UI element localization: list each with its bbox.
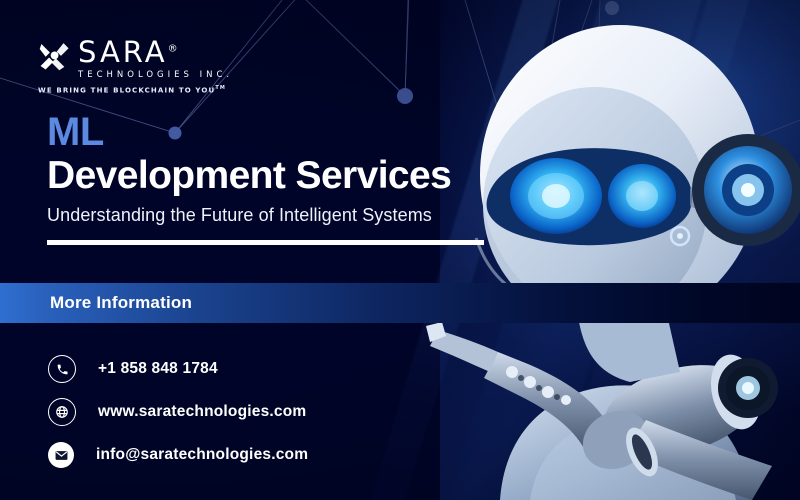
contact-item-phone[interactable]: +1 858 848 1784 [48, 352, 308, 386]
contact-website-label: www.saratechnologies.com [98, 403, 306, 421]
contact-email-label: info@saratechnologies.com [96, 446, 308, 464]
contact-list: +1 858 848 1784 www.saratechnologies.com… [48, 352, 308, 481]
registered-mark: ® [168, 43, 178, 54]
email-icon [48, 442, 74, 468]
brand-logo[interactable]: SARA® TECHNOLOGIES INC. WE BRING THE BLO… [38, 38, 288, 94]
brand-subname: TECHNOLOGIES INC. [78, 70, 233, 80]
headline-block: ML Development Services Understanding th… [47, 112, 517, 245]
brand-name: SARA® [78, 39, 178, 67]
more-information-button[interactable]: More Information [0, 283, 800, 323]
page-title: Development Services [47, 154, 517, 198]
marketing-banner: SARA® TECHNOLOGIES INC. WE BRING THE BLO… [0, 0, 800, 500]
contact-phone-label: +1 858 848 1784 [98, 360, 218, 378]
headline-divider [47, 240, 484, 245]
headline-eyebrow: ML [47, 112, 517, 152]
contact-item-website[interactable]: www.saratechnologies.com [48, 395, 308, 429]
sara-x-mark-icon [38, 38, 72, 72]
more-information-label: More Information [50, 293, 192, 313]
contact-item-email[interactable]: info@saratechnologies.com [48, 438, 308, 472]
phone-icon [48, 355, 76, 383]
humanoid-robot-illustration [380, 0, 800, 500]
trademark-mark: TM [215, 85, 226, 91]
headline-subtitle: Understanding the Future of Intelligent … [47, 205, 517, 226]
brand-tagline: WE BRING THE BLOCKCHAIN TO YOUTM [38, 85, 288, 94]
globe-icon [48, 398, 76, 426]
